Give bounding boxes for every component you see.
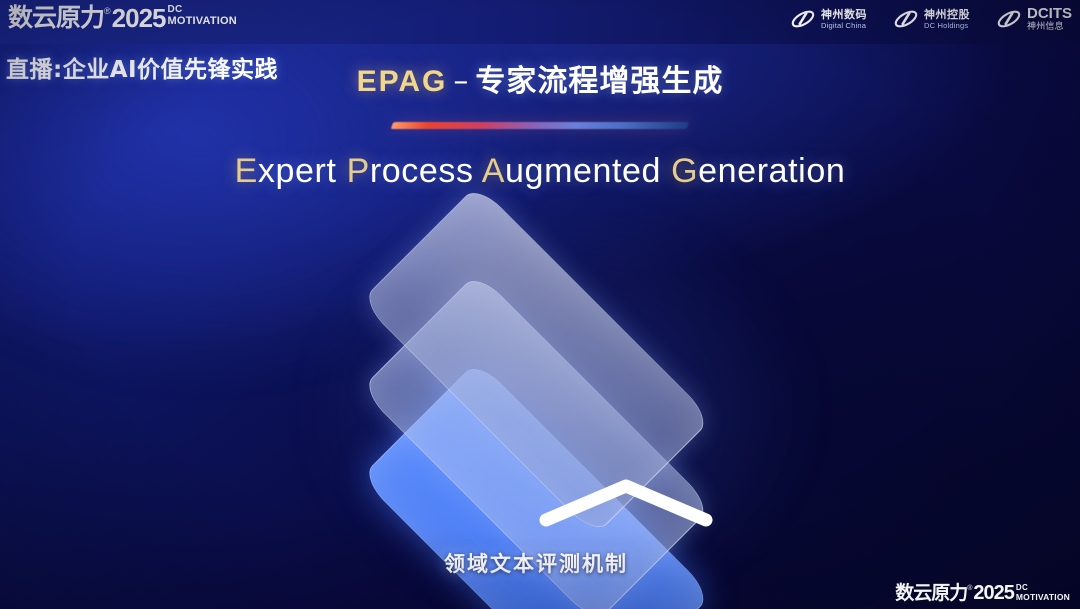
watermark-registered: ® <box>967 584 972 593</box>
presentation-slide: 数云原力 ® 2025 DC MOTIVATION 直播:企业AI价值先锋实践 … <box>0 0 1080 609</box>
footer-watermark-logo: 数云原力 ® 2025 DC MOTIVATION <box>895 582 1070 605</box>
watermark-dc-motivation: DC MOTIVATION <box>1016 584 1070 602</box>
watermark-motivation-label: MOTIVATION <box>1016 592 1070 602</box>
slide-vignette <box>0 0 1080 609</box>
watermark-brand-cn: 数云原力 <box>895 582 967 605</box>
watermark-dc-label: DC <box>1016 584 1070 592</box>
watermark-year: 2025 <box>973 582 1014 605</box>
